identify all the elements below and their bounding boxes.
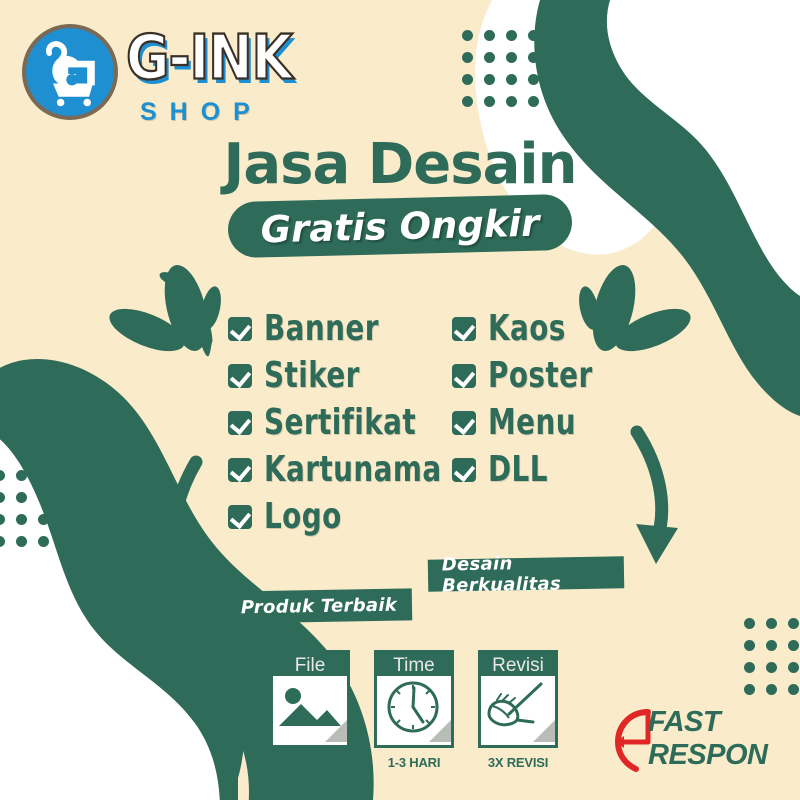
dot	[484, 74, 495, 85]
service-label: Kaos	[488, 308, 566, 349]
check-icon[interactable]	[228, 505, 252, 529]
dot	[16, 470, 27, 481]
card-caption: 3X REVISI	[470, 755, 566, 770]
card-title: Time	[374, 650, 454, 676]
dot	[0, 514, 5, 525]
badge-produk-terbaik: Produk Terbaik	[226, 588, 413, 623]
info-cards: File JPEG/PNG,PDF Time	[270, 650, 590, 780]
check-icon[interactable]	[452, 317, 476, 341]
poster-canvas: G-INK SHOP Jasa Desain Gratis Ongkir Ban…	[0, 0, 800, 800]
info-card-time: Time	[374, 650, 454, 780]
service-label: DLL	[488, 449, 548, 490]
service-list-left: Banner Stiker Sertifikat Kartunama Logo	[228, 305, 471, 540]
dot-grid-left	[0, 470, 82, 558]
dot	[484, 96, 495, 107]
dot	[0, 492, 5, 503]
card-title: Revisi	[478, 650, 558, 676]
curved-arrow-left	[160, 462, 200, 588]
dot	[506, 52, 517, 63]
list-item[interactable]: Kartunama	[228, 446, 471, 493]
shopping-cart-g-icon	[34, 36, 110, 112]
dot	[0, 470, 5, 481]
dot	[38, 492, 49, 503]
list-item[interactable]: Kaos	[452, 305, 610, 352]
logo-badge-circle	[22, 24, 118, 120]
service-list-right: Kaos Poster Menu DLL	[452, 305, 610, 493]
curved-arrow-right	[636, 432, 678, 564]
list-item[interactable]: Menu	[452, 399, 610, 446]
dot	[16, 492, 27, 503]
service-label: Banner	[264, 308, 379, 349]
dot	[528, 96, 539, 107]
dot	[744, 640, 755, 651]
info-card-revisi: Revisi 3X REVISI	[478, 650, 558, 780]
card-body	[374, 676, 454, 748]
dot	[38, 514, 49, 525]
brand-logo: G-INK SHOP	[22, 20, 322, 130]
fast-respon-badge: FAST RESPON	[612, 704, 792, 784]
dot	[38, 470, 49, 481]
card-caption: JPEG/PNG,PDF	[262, 755, 358, 770]
dot	[788, 684, 799, 695]
clock-icon	[377, 676, 451, 742]
dot	[744, 684, 755, 695]
dot	[788, 662, 799, 673]
dot	[60, 470, 71, 481]
service-label: Sertifikat	[264, 402, 416, 443]
dot-grid-bottom-right	[744, 618, 800, 706]
hand-pen-icon	[481, 676, 555, 742]
dot-grid-top	[462, 30, 550, 118]
dot	[528, 52, 539, 63]
service-label: Poster	[488, 355, 593, 396]
dot	[506, 74, 517, 85]
list-item[interactable]: Poster	[452, 352, 610, 399]
ribbon-label: Gratis Ongkir	[227, 194, 572, 258]
dot	[0, 536, 5, 547]
dot	[766, 662, 777, 673]
service-label: Menu	[488, 402, 576, 443]
dot	[462, 96, 473, 107]
page-title: Jasa Desain	[0, 132, 800, 197]
check-icon[interactable]	[228, 364, 252, 388]
dot	[766, 640, 777, 651]
card-body	[270, 676, 350, 748]
info-card-file: File JPEG/PNG,PDF	[270, 650, 350, 780]
card-caption: 1-3 HARI	[366, 755, 462, 770]
card-title: File	[270, 650, 350, 676]
check-icon[interactable]	[228, 458, 252, 482]
brand-wordmark: G-INK SHOP	[126, 24, 316, 128]
dot	[38, 536, 49, 547]
service-label: Stiker	[264, 355, 360, 396]
fast-respon-line2: RESPON	[648, 739, 767, 772]
fast-respon-line1: FAST	[648, 706, 767, 739]
dot	[506, 30, 517, 41]
list-item[interactable]: Stiker	[228, 352, 471, 399]
card-body	[478, 676, 558, 748]
dot	[506, 96, 517, 107]
service-label: Kartunama	[264, 449, 442, 490]
dot	[744, 618, 755, 629]
dot	[462, 52, 473, 63]
dot	[766, 684, 777, 695]
dot	[60, 514, 71, 525]
dot	[16, 536, 27, 547]
dot	[484, 30, 495, 41]
dot	[528, 30, 539, 41]
badge-desain-berkualitas: Desain Berkualitas	[428, 556, 625, 591]
service-label: Logo	[264, 496, 342, 537]
check-icon[interactable]	[228, 317, 252, 341]
brand-subtitle: SHOP	[140, 98, 316, 127]
fast-respon-text: FAST RESPON	[648, 706, 767, 772]
image-icon	[273, 676, 347, 742]
dot	[744, 662, 755, 673]
petal-group-left	[104, 261, 224, 362]
check-icon[interactable]	[452, 411, 476, 435]
check-icon[interactable]	[452, 364, 476, 388]
dot	[766, 618, 777, 629]
list-item[interactable]: DLL	[452, 446, 610, 493]
dot	[60, 492, 71, 503]
check-icon[interactable]	[452, 458, 476, 482]
dot	[788, 618, 799, 629]
list-item[interactable]: Banner	[228, 305, 471, 352]
dot	[484, 52, 495, 63]
check-icon[interactable]	[228, 411, 252, 435]
list-item[interactable]: Logo	[228, 493, 471, 540]
dot	[16, 514, 27, 525]
dot	[462, 30, 473, 41]
dot	[60, 536, 71, 547]
list-item[interactable]: Sertifikat	[228, 399, 471, 446]
dot	[528, 74, 539, 85]
dot	[788, 640, 799, 651]
brand-name: G-INK	[126, 24, 320, 92]
dot	[462, 74, 473, 85]
